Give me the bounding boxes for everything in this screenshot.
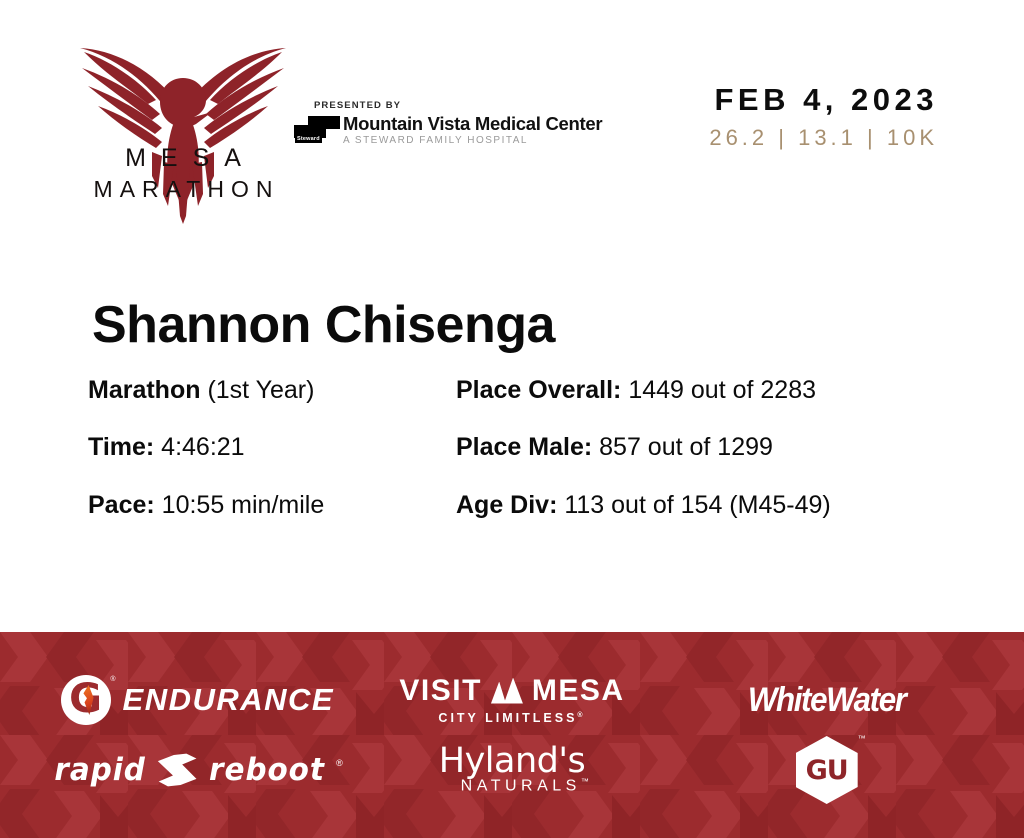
stat-row: Pace: 10:55 min/mile Age Div: 113 out of… <box>88 490 948 521</box>
stat-age-div: Age Div: 113 out of 154 (M45-49) <box>456 490 948 521</box>
sponsor-whitewater[interactable]: WhiteWater <box>669 665 984 735</box>
runner-name: Shannon Chisenga <box>92 297 555 354</box>
sponsor-row-1: G ® ENDURANCE VISIT MESA <box>0 665 1024 735</box>
sponsor-footer: G ® ENDURANCE VISIT MESA <box>0 632 1024 838</box>
presented-by-block: PRESENTED BY Steward Mountain Vista Medi… <box>294 100 564 146</box>
gatorade-endurance-text: ENDURANCE <box>123 682 335 718</box>
visit-mesa-word-visit: VISIT <box>399 676 482 706</box>
sponsor-name: Mountain Vista Medical Center <box>343 114 602 133</box>
sponsor-row-2: rapid reboot ® Hyland's NATURALS™ GU ™ <box>0 735 1024 805</box>
stat-pace: Pace: 10:55 min/mile <box>88 490 456 521</box>
stat-row: Time: 4:46:21 Place Male: 857 out of 129… <box>88 432 948 463</box>
event-date: FEB 4, 2023 <box>709 82 938 118</box>
header: MESA MARATHON PRESENTED BY Steward Mount… <box>0 0 1024 240</box>
gu-text: GU <box>806 757 848 784</box>
stat-label: Marathon <box>88 376 201 404</box>
rapid-reboot-word-rapid: rapid <box>54 752 145 788</box>
logo-text-marathon: MARATHON <box>72 178 294 201</box>
sponsor-gatorade-endurance[interactable]: G ® ENDURANCE <box>40 665 355 735</box>
rapid-reboot-swoosh-icon <box>156 753 198 787</box>
rapid-reboot-word-reboot: reboot <box>209 752 325 788</box>
gatorade-g-letter: G <box>69 679 102 719</box>
visit-mesa-tagline: CITY LIMITLESS® <box>399 711 624 725</box>
stat-place-overall: Place Overall: 1449 out of 2283 <box>456 375 948 406</box>
steward-logo-icon: Steward <box>294 116 340 146</box>
mountain-icon <box>491 678 523 704</box>
visit-mesa-word-mesa: MESA <box>532 676 625 706</box>
sponsor-visit-mesa[interactable]: VISIT MESA CITY LIMITLESS® <box>355 665 670 735</box>
sponsor-tagline: A STEWARD FAMILY HOSPITAL <box>343 135 602 146</box>
sponsor-rapid-reboot[interactable]: rapid reboot ® <box>40 735 355 805</box>
event-distances: 26.2 | 13.1 | 10K <box>709 126 938 150</box>
stat-place-male: Place Male: 857 out of 1299 <box>456 432 948 463</box>
stat-time: Time: 4:46:21 <box>88 432 456 463</box>
gatorade-g-icon: G ® <box>61 675 111 725</box>
gu-hexagon-icon: GU <box>796 736 858 804</box>
whitewater-text: WhiteWater <box>748 681 906 720</box>
stat-row: Marathon (1st Year) Place Overall: 1449 … <box>88 375 948 406</box>
stat-value: 4:46:21 <box>154 433 244 461</box>
stat-value: 10:55 min/mile <box>155 491 325 519</box>
gatorade-registered-mark: ® <box>110 676 115 683</box>
logo-text-mesa: MESA <box>78 146 288 171</box>
stat-value: 1449 out of 2283 <box>621 376 816 404</box>
hylands-wordmark: Hyland's <box>431 744 594 779</box>
stat-race-type: Marathon (1st Year) <box>88 375 456 406</box>
stat-label: Time: <box>88 433 154 461</box>
result-stats: Marathon (1st Year) Place Overall: 1449 … <box>88 375 948 547</box>
stat-label: Pace: <box>88 491 155 519</box>
stat-label: Age Div: <box>456 491 557 519</box>
stat-label: Place Male: <box>456 433 592 461</box>
sponsor-hylands-naturals[interactable]: Hyland's NATURALS™ <box>355 735 670 805</box>
sponsor-gu-energy[interactable]: GU ™ <box>669 735 984 805</box>
stat-label: Place Overall: <box>456 376 621 404</box>
stat-value: 113 out of 154 (M45-49) <box>557 491 830 519</box>
gu-trademark: ™ <box>858 734 866 743</box>
visit-mesa-tagline-text: CITY LIMITLESS <box>438 711 577 725</box>
visit-mesa-registered-mark: ® <box>577 711 585 718</box>
stat-value: 857 out of 1299 <box>592 433 773 461</box>
stat-value: (1st Year) <box>201 376 315 404</box>
event-date-block: FEB 4, 2023 26.2 | 13.1 | 10K <box>709 82 938 150</box>
mesa-marathon-logo: MESA MARATHON <box>78 34 288 224</box>
rapid-reboot-registered-mark: ® <box>336 758 343 768</box>
steward-mark-label: Steward <box>295 135 322 143</box>
presented-by-label: PRESENTED BY <box>314 100 564 111</box>
